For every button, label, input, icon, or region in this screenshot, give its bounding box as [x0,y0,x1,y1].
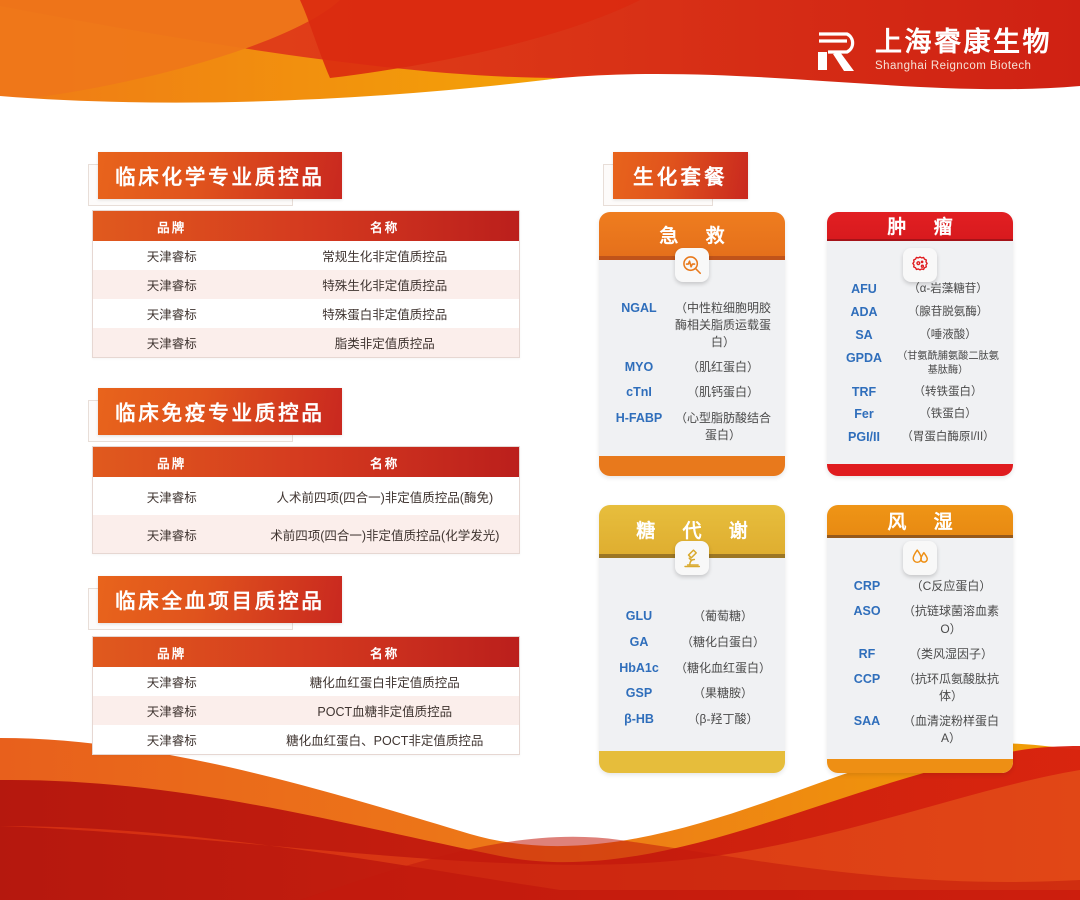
item-abbreviation: SAA [836,713,898,731]
list-item: TRF （转铁蛋白） [836,384,1004,402]
table-row: 天津睿标 糖化血红蛋白、POCT非定值质控品 [93,725,519,754]
panel-glucose-metabolism: 糖 代 谢 GLU （葡萄糖） GA （糖化白蛋白） [599,505,785,773]
list-item: SAA （血清淀粉样蛋白A） [836,713,1004,747]
section-title-clinical-chemistry: 临床化学专业质控品 [98,152,303,199]
table-row: 天津睿标 POCT血糖非定值质控品 [93,696,519,725]
item-abbreviation: H-FABP [608,410,670,428]
table-row: 天津睿标 糖化血红蛋白非定值质控品 [93,667,519,696]
cell-brand: 天津睿标 [93,701,251,720]
list-item: H-FABP （心型脂肪酸结合蛋白） [608,410,776,444]
cell-brand: 天津睿标 [93,730,251,749]
item-chinese-name: （胃蛋白酶原I/II） [892,429,1004,445]
reigncom-r-logo-icon [814,28,864,74]
brand-logo: 上海睿康生物 Shanghai Reigncom Biotech [814,28,1052,74]
item-chinese-name: （腺苷脱氨酶） [892,304,1004,320]
list-item: SA （唾液酸） [836,327,1004,345]
item-abbreviation: AFU [836,281,892,299]
item-abbreviation: SA [836,327,892,345]
qc-table-clinical-immunology: 品牌 名称 天津睿标 人术前四项(四合一)非定值质控品(酶免) 天津睿标 术前四… [92,446,520,554]
section-title-clinical-immunology: 临床免疫专业质控品 [98,388,303,435]
item-chinese-name: （抗链球菌溶血素O） [898,603,1004,637]
column-header-brand: 品牌 [93,643,251,662]
cell-name: 人术前四项(四合一)非定值质控品(酶免) [251,487,519,506]
panel-item-list: NGAL （中性粒细胞明胶酶相关脂质运载蛋白） MYO （肌红蛋白） cTnI … [599,260,785,457]
item-chinese-name: （果糖胺） [670,685,776,702]
panel-footer-bar [827,464,1013,476]
list-item: GPDA （甘氨酰脯氨酸二肽氨基肽酶） [836,350,1004,379]
panel-header: 风 湿 [827,505,1013,535]
panel-footer-bar [599,456,785,476]
page-content: 临床化学专业质控品 品牌 名称 天津睿标 常规生化非定值质控品 天津睿标 特殊生… [0,0,1080,900]
section-title-biochem-package: 生化套餐 [613,152,723,199]
list-item: CRP （C反应蛋白） [836,578,1004,596]
cell-name: 糖化血红蛋白非定值质控品 [251,672,519,691]
cell-brand: 天津睿标 [93,487,251,506]
panel-footer-bar [599,751,785,773]
item-chinese-name: （糖化白蛋白） [670,634,776,651]
cell-brand: 天津睿标 [93,246,251,265]
qc-table-clinical-chemistry: 品牌 名称 天津睿标 常规生化非定值质控品 天津睿标 特殊生化非定值质控品 天津… [92,210,520,358]
item-abbreviation: Fer [836,406,892,424]
table-header-row: 品牌 名称 [93,447,519,477]
list-item: AFU （α-岩藻糖苷） [836,281,1004,299]
item-chinese-name: （β-羟丁酸） [670,711,776,728]
item-abbreviation: ADA [836,304,892,322]
cell-name: POCT血糖非定值质控品 [251,701,519,720]
logo-chinese-name: 上海睿康生物 [875,29,1052,56]
panel-header: 急 救 [599,212,785,256]
cell-name: 术前四项(四合一)非定值质控品(化学发光) [251,525,519,544]
item-chinese-name: （铁蛋白） [892,406,1004,422]
item-chinese-name: （甘氨酰脯氨酸二肽氨基肽酶） [892,350,1004,379]
panel-title: 糖 代 谢 [625,516,759,543]
cell-brand: 天津睿标 [93,672,251,691]
list-item: β-HB （β-羟丁酸） [608,711,776,729]
table-row: 天津睿标 脂类非定值质控品 [93,328,519,357]
column-header-name: 名称 [251,217,519,236]
item-chinese-name: （α-岩藻糖苷） [892,281,1004,297]
item-chinese-name: （C反应蛋白） [898,578,1004,595]
item-chinese-name: （肌红蛋白） [670,359,776,376]
item-abbreviation: HbA1c [608,660,670,678]
section-title-label: 临床全血项目质控品 [98,576,342,623]
cell-brand: 天津睿标 [93,333,251,352]
list-item: CCP （抗环瓜氨酸肽抗体） [836,671,1004,705]
item-abbreviation: β-HB [608,711,670,729]
section-title-label: 临床化学专业质控品 [98,152,342,199]
item-chinese-name: （转铁蛋白） [892,384,1004,400]
list-item: RF （类风湿因子） [836,646,1004,664]
cell-name: 糖化血红蛋白、POCT非定值质控品 [251,730,519,749]
list-item: HbA1c （糖化血红蛋白） [608,660,776,678]
item-chinese-name: （唾液酸） [892,327,1004,343]
panel-emergency: 急 救 NGAL （中性粒细胞明胶酶相关脂质运载蛋白） MYO （肌红蛋白） c… [599,212,785,476]
item-abbreviation: cTnI [608,384,670,402]
section-title-label: 临床免疫专业质控品 [98,388,342,435]
column-header-name: 名称 [251,453,519,472]
section-title-label: 生化套餐 [613,152,748,199]
panel-header: 肿 瘤 [827,212,1013,239]
list-item: GLU （葡萄糖） [608,608,776,626]
panel-title: 风 湿 [876,507,963,534]
list-item: Fer （铁蛋白） [836,406,1004,424]
column-header-brand: 品牌 [93,217,251,236]
list-item: MYO （肌红蛋白） [608,359,776,377]
logo-english-name: Shanghai Reigncom Biotech [875,61,1052,73]
table-row: 天津睿标 术前四项(四合一)非定值质控品(化学发光) [93,515,519,553]
table-header-row: 品牌 名称 [93,211,519,241]
item-abbreviation: TRF [836,384,892,402]
list-item: cTnI （肌钙蛋白） [608,384,776,402]
tumor-cell-icon [903,248,937,282]
panel-footer-bar [827,759,1013,773]
section-title-clinical-whole-blood: 临床全血项目质控品 [98,576,303,623]
cell-name: 特殊蛋白非定值质控品 [251,304,519,323]
cell-brand: 天津睿标 [93,275,251,294]
panel-item-list: GLU （葡萄糖） GA （糖化白蛋白） HbA1c （糖化血红蛋白） GSP … [599,558,785,751]
table-header-row: 品牌 名称 [93,637,519,667]
table-row: 天津睿标 特殊蛋白非定值质控品 [93,299,519,328]
table-row: 天津睿标 常规生化非定值质控品 [93,241,519,270]
table-row: 天津睿标 人术前四项(四合一)非定值质控品(酶免) [93,477,519,515]
microscope-icon [675,541,709,575]
item-abbreviation: CRP [836,578,898,596]
qc-table-clinical-whole-blood: 品牌 名称 天津睿标 糖化血红蛋白非定值质控品 天津睿标 POCT血糖非定值质控… [92,636,520,755]
item-abbreviation: GSP [608,685,670,703]
panel-title: 急 救 [648,221,735,248]
item-abbreviation: MYO [608,359,670,377]
list-item: PGI/II （胃蛋白酶原I/II） [836,429,1004,447]
list-item: NGAL （中性粒细胞明胶酶相关脂质运载蛋白） [608,300,776,351]
panel-title: 肿 瘤 [876,212,963,239]
column-header-brand: 品牌 [93,453,251,472]
column-header-name: 名称 [251,643,519,662]
item-abbreviation: PGI/II [836,429,892,447]
item-abbreviation: NGAL [608,300,670,318]
item-abbreviation: ASO [836,603,898,621]
cell-name: 特殊生化非定值质控品 [251,275,519,294]
list-item: ASO （抗链球菌溶血素O） [836,603,1004,637]
item-chinese-name: （心型脂肪酸结合蛋白） [670,410,776,444]
cell-brand: 天津睿标 [93,304,251,323]
panel-rheumatism: 风 湿 CRP （C反应蛋白） ASO （抗链球菌溶血素O） RF （类风湿因子… [827,505,1013,773]
list-item: ADA （腺苷脱氨酶） [836,304,1004,322]
water-drops-icon [903,541,937,575]
table-row: 天津睿标 特殊生化非定值质控品 [93,270,519,299]
item-chinese-name: （血清淀粉样蛋白A） [898,713,1004,747]
cell-name: 常规生化非定值质控品 [251,246,519,265]
item-chinese-name: （类风湿因子） [898,646,1004,663]
item-abbreviation: GA [608,634,670,652]
panel-header: 糖 代 谢 [599,505,785,554]
item-abbreviation: GPDA [836,350,892,368]
list-item: GSP （果糖胺） [608,685,776,703]
cell-brand: 天津睿标 [93,525,251,544]
list-item: GA （糖化白蛋白） [608,634,776,652]
panel-tumor: 肿 瘤 AFU （α-岩藻糖苷） ADA （腺苷脱氨酶） SA [827,212,1013,476]
item-abbreviation: GLU [608,608,670,626]
item-abbreviation: CCP [836,671,898,689]
item-chinese-name: （中性粒细胞明胶酶相关脂质运载蛋白） [670,300,776,351]
pulse-magnifier-icon [675,248,709,282]
item-chinese-name: （抗环瓜氨酸肽抗体） [898,671,1004,705]
item-chinese-name: （肌钙蛋白） [670,384,776,401]
item-chinese-name: （糖化血红蛋白） [670,660,776,677]
cell-name: 脂类非定值质控品 [251,333,519,352]
item-abbreviation: RF [836,646,898,664]
item-chinese-name: （葡萄糖） [670,608,776,625]
